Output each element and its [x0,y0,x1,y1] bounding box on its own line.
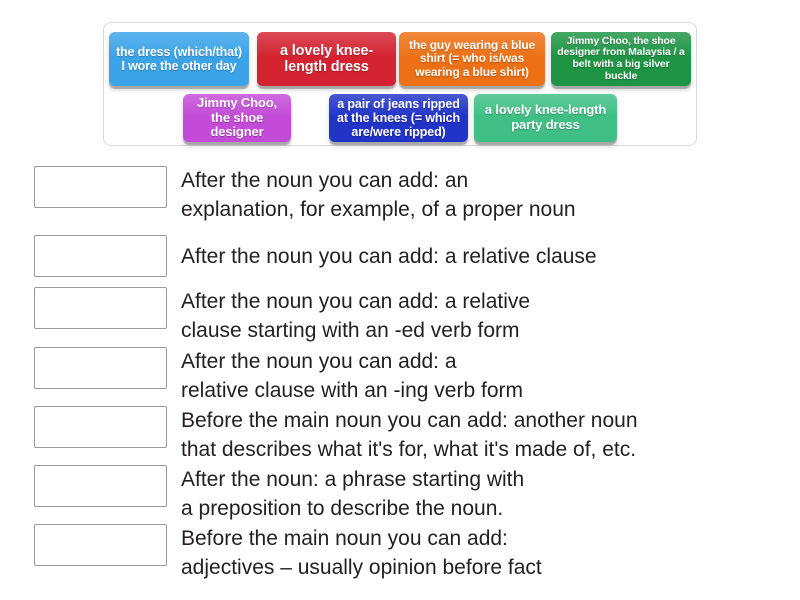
tile-jeans-ripped[interactable]: a pair of jeans ripped at the knees (= w… [329,94,468,142]
answer-row: Before the main noun you can add: adject… [34,524,774,583]
drop-zone-ing-verb-form[interactable] [34,347,167,389]
answer-row: After the noun you can add: a relative c… [34,347,774,406]
tile-label: a lovely knee-length dress [262,43,391,75]
tile-row-1: the dress (which/that) I wore the other … [104,32,696,86]
drop-zone-ed-verb-form[interactable] [34,287,167,329]
tile-label: a lovely knee-length party dress [479,103,612,132]
answer-label: Before the main noun you can add: anothe… [181,406,774,465]
tile-lovely-knee-length-dress[interactable]: a lovely knee-length dress [257,32,396,86]
tile-the-dress[interactable]: the dress (which/that) I wore the other … [109,32,249,86]
tile-jimmy-choo-malaysia[interactable]: Jimmy Choo, the shoe designer from Malay… [551,32,691,86]
tile-label: the guy wearing a blue shirt (= who is/w… [404,39,540,79]
answer-row: After the noun you can add: a relative c… [34,235,774,277]
tile-label: the dress (which/that) I wore the other … [114,45,244,73]
drop-zone-relative-clause[interactable] [34,235,167,277]
answer-label: After the noun you can add: an explanati… [181,166,774,225]
answer-label: After the noun you can add: a relative c… [181,235,774,272]
answer-row: Before the main noun you can add: anothe… [34,406,774,465]
answer-label: After the noun you can add: a relative c… [181,347,774,406]
answer-label: After the noun: a phrase starting with a… [181,465,774,524]
tile-lovely-party-dress[interactable]: a lovely knee-length party dress [474,94,617,142]
answer-row: After the noun: a phrase starting with a… [34,465,774,524]
draggable-tile-tray: the dress (which/that) I wore the other … [103,22,697,146]
answer-row: After the noun you can add: an explanati… [34,166,774,225]
answer-label: Before the main noun you can add: adject… [181,524,774,583]
drop-zone-adjectives[interactable] [34,524,167,566]
drop-zone-another-noun[interactable] [34,406,167,448]
answer-list: After the noun you can add: an explanati… [34,166,774,583]
tile-label: Jimmy Choo, the shoe designer [188,96,286,140]
tile-row-2: Jimmy Choo, the shoe designer a pair of … [104,94,696,142]
answer-row: After the noun you can add: a relative c… [34,287,774,346]
tile-jimmy-choo-designer[interactable]: Jimmy Choo, the shoe designer [183,94,291,142]
drop-zone-preposition-phrase[interactable] [34,465,167,507]
answer-label: After the noun you can add: a relative c… [181,287,774,346]
drop-zone-explanation[interactable] [34,166,167,208]
tile-label: Jimmy Choo, the shoe designer from Malay… [556,36,686,83]
tile-label: a pair of jeans ripped at the knees (= w… [334,97,463,139]
tile-guy-blue-shirt[interactable]: the guy wearing a blue shirt (= who is/w… [399,32,545,86]
